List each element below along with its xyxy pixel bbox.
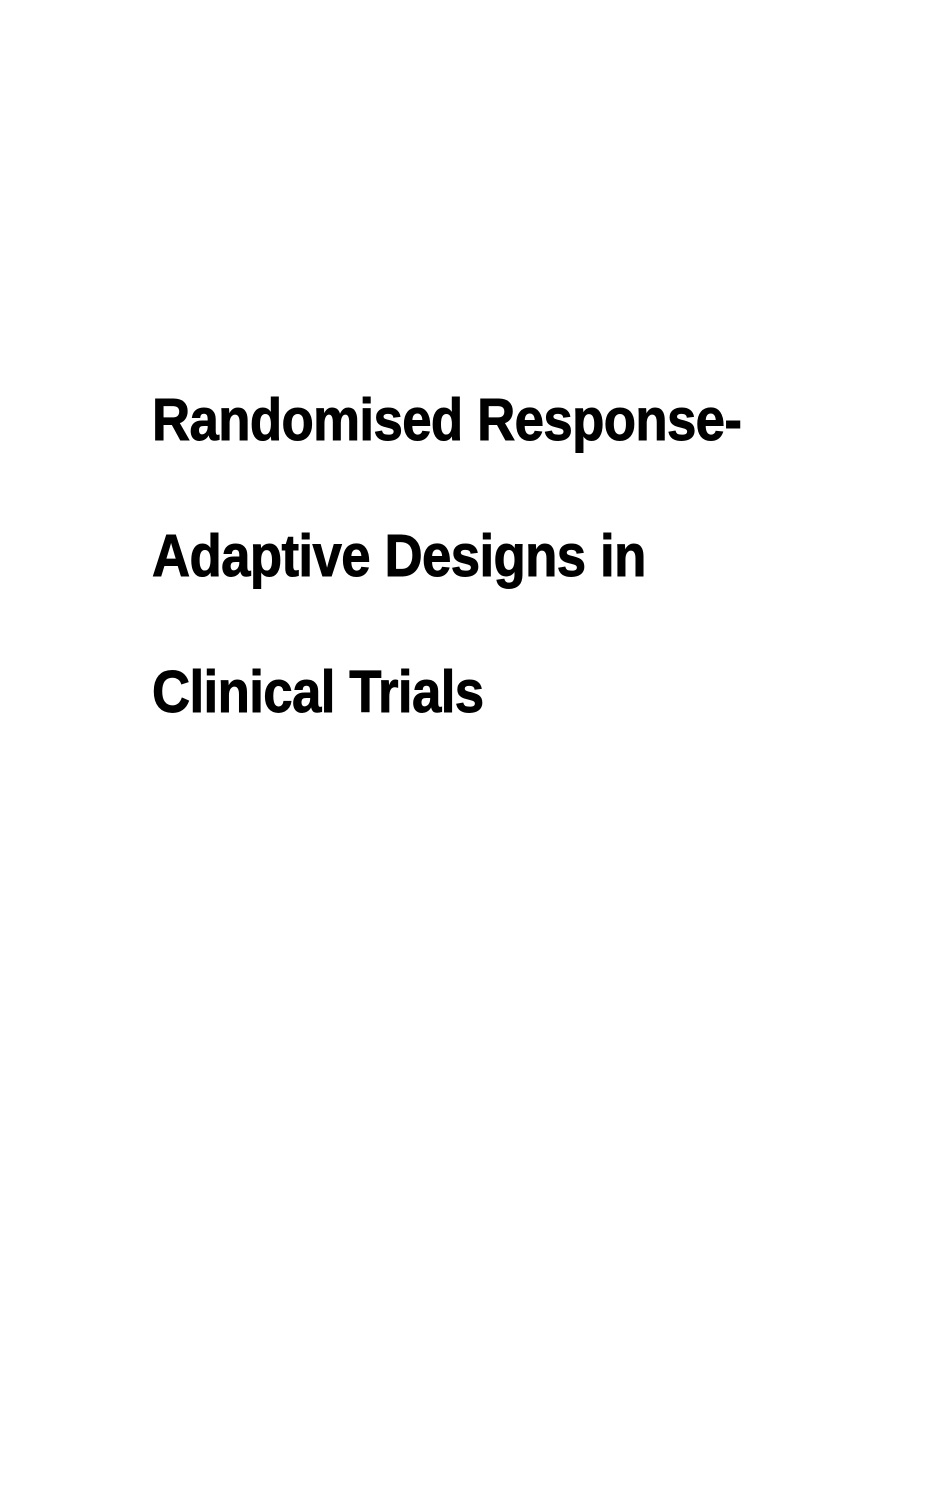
title-page: Randomised Response- Adaptive Designs in… — [0, 0, 950, 1487]
page-title: Randomised Response- Adaptive Designs in… — [152, 318, 743, 794]
title-line-3: Clinical Trials — [152, 658, 743, 726]
title-line-1: Randomised Response- — [152, 386, 743, 454]
title-line-2: Adaptive Designs in — [152, 522, 743, 590]
title-block: Randomised Response- Adaptive Designs in… — [152, 318, 812, 794]
